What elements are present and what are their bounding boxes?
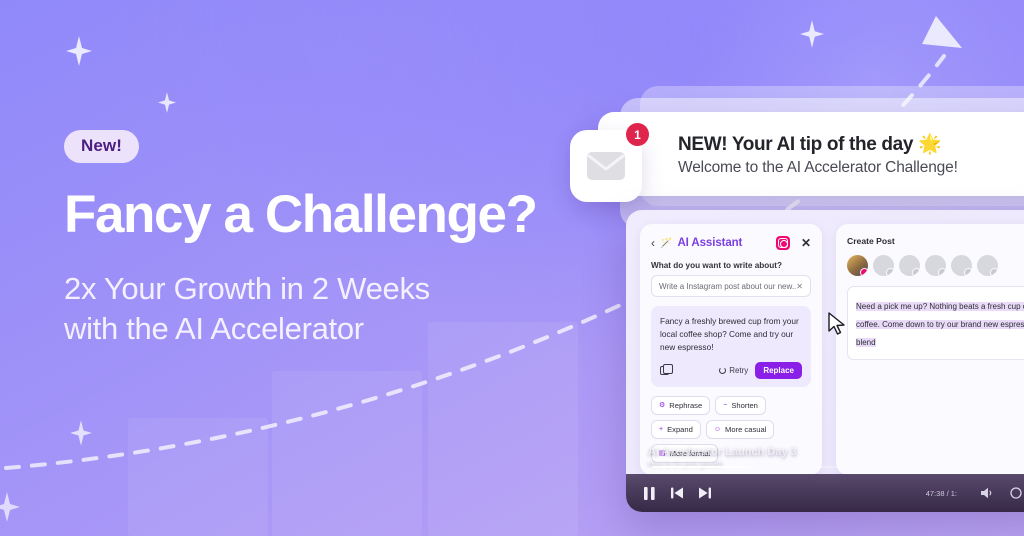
post-composer[interactable]: Need a pick me up? Nothing beats a fresh… (847, 286, 1024, 360)
product-mockup: NEW! Your AI tip of the day 🌟 Welcome to… (598, 86, 1024, 506)
platform-badge-icon (912, 268, 920, 276)
new-badge: New! (64, 130, 139, 163)
seek-bar[interactable] (652, 466, 1024, 468)
video-meta: AI Accelerator Launch Day 3 How to 2x yo… (648, 446, 797, 468)
promo-copy: New! Fancy a Challenge? 2x Your Growth i… (64, 130, 584, 349)
decor-bar-2 (272, 371, 422, 536)
playback-controls (644, 487, 711, 500)
notification-subtitle: Welcome to the AI Accelerator Challenge! (678, 159, 958, 177)
replace-button[interactable]: Replace (755, 362, 802, 379)
create-post-title: Create Post (847, 236, 1024, 246)
avatar[interactable] (925, 255, 946, 276)
pause-icon[interactable] (644, 487, 655, 500)
unread-count-badge: 1 (626, 123, 649, 146)
avatar[interactable] (899, 255, 920, 276)
chip-rephrase[interactable]: ⚙ Rephrase (651, 396, 710, 415)
copy-icon[interactable] (660, 366, 669, 375)
casual-icon: ☺ (714, 426, 721, 433)
instagram-icon[interactable] (776, 236, 790, 250)
prompt-label: What do you want to write about? (651, 261, 811, 270)
sparkle-icon (800, 20, 824, 48)
app-window: ‹ 🪄 AI Assistant ✕ What do you want to w… (626, 210, 1024, 512)
retry-icon (719, 367, 726, 374)
video-title: AI Accelerator Launch Day 3 (648, 446, 797, 458)
seek-progress (652, 466, 746, 468)
mouse-cursor-icon (828, 312, 846, 336)
prompt-input[interactable]: Write a Instagram post about our new... … (651, 275, 811, 297)
retry-label: Retry (729, 366, 748, 375)
platform-badge-icon (938, 268, 946, 276)
platform-badge-icon (886, 268, 894, 276)
chip-label: Shorten (731, 401, 758, 410)
assistant-title: AI Assistant (677, 237, 742, 249)
next-track-icon[interactable] (699, 487, 711, 499)
avatar[interactable] (847, 255, 868, 276)
decor-bar-3 (428, 322, 578, 536)
video-control-bar: 47:38 / 1: (626, 474, 1024, 512)
sparkle-icon (66, 36, 92, 66)
previous-track-icon[interactable] (671, 487, 683, 499)
video-timestamp: 47:38 / 1: (926, 489, 957, 498)
page-title: Fancy a Challenge? (64, 187, 584, 243)
instagram-badge-icon (860, 268, 868, 276)
magic-wand-icon: 🪄 (660, 238, 672, 249)
subtitle-line-2: with the AI Accelerator (64, 311, 364, 346)
chip-label: Rephrase (669, 401, 702, 410)
notification-title: NEW! Your AI tip of the day 🌟 (678, 132, 958, 156)
expand-icon: + (659, 426, 663, 433)
avatar-row (847, 255, 1024, 276)
rephrase-icon: ⚙ (659, 401, 665, 409)
clear-input-icon[interactable]: ✕ (796, 282, 803, 291)
platform-badge-icon (964, 268, 972, 276)
avatar[interactable] (951, 255, 972, 276)
decor-bar-1 (128, 418, 268, 536)
volume-icon[interactable] (981, 487, 994, 499)
page-subtitle: 2x Your Growth in 2 Weeks with the AI Ac… (64, 269, 584, 349)
envelope-icon: 1 (570, 130, 642, 202)
generated-text: Fancy a freshly brewed cup from your loc… (660, 315, 802, 354)
shorten-icon: − (723, 402, 727, 409)
sparkle-icon (70, 420, 92, 446)
notification-card[interactable]: NEW! Your AI tip of the day 🌟 Welcome to… (598, 112, 1024, 196)
generated-actions: Retry Replace (660, 362, 802, 379)
avatar[interactable] (873, 255, 894, 276)
prompt-input-value: Write a Instagram post about our new... (659, 282, 796, 291)
sparkle-icon (0, 492, 20, 522)
post-composer-text: Need a pick me up? Nothing beats a fresh… (856, 302, 1024, 347)
chip-label: Expand (667, 425, 693, 434)
back-chevron-icon[interactable]: ‹ (651, 237, 655, 249)
retry-button[interactable]: Retry (719, 366, 748, 375)
video-player-overlay: AI Accelerator Launch Day 3 How to 2x yo… (626, 434, 1024, 512)
platform-badge-icon (990, 268, 998, 276)
subtitle-line-1: 2x Your Growth in 2 Weeks (64, 271, 430, 306)
generated-result-box: Fancy a freshly brewed cup from your loc… (651, 306, 811, 387)
chip-label: More casual (725, 425, 766, 434)
loop-icon[interactable] (1010, 487, 1022, 499)
avatar[interactable] (977, 255, 998, 276)
assistant-header: ‹ 🪄 AI Assistant ✕ (651, 236, 811, 250)
sparkle-icon (158, 92, 176, 113)
video-right-controls: 47:38 / 1: (926, 487, 1024, 499)
chip-shorten[interactable]: − Shorten (715, 396, 766, 415)
close-icon[interactable]: ✕ (801, 237, 811, 249)
